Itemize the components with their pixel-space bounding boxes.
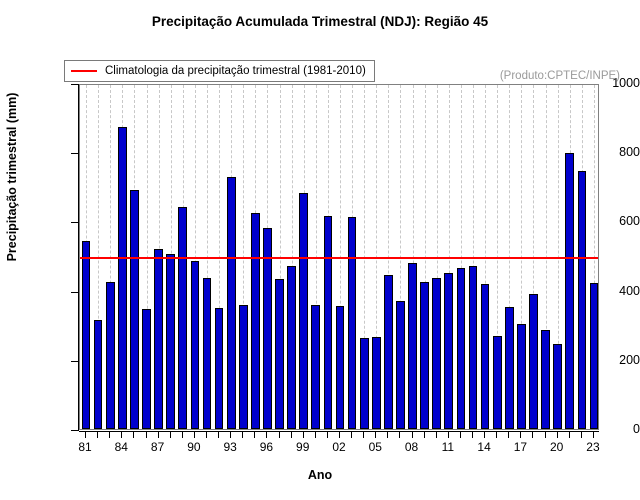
x-tick (375, 432, 376, 438)
bar (348, 217, 357, 429)
y-tick (71, 430, 78, 431)
x-tick (315, 432, 316, 438)
bar (324, 216, 333, 429)
bar (311, 305, 320, 429)
bar (130, 190, 139, 429)
bar (420, 282, 429, 429)
y-tick (71, 361, 78, 362)
bar (457, 268, 466, 429)
x-tick-label: 90 (179, 440, 209, 454)
bar (372, 337, 381, 429)
x-tick (545, 432, 546, 438)
page-title: Precipitação Acumulada Trimestral (NDJ):… (0, 14, 640, 29)
y-tick (71, 153, 78, 154)
bar (553, 344, 562, 429)
legend-label-climatology: Climatologia da precipitação trimestral … (105, 65, 366, 77)
x-tick (387, 432, 388, 438)
bar (142, 309, 151, 429)
bar (154, 249, 163, 429)
x-tick (230, 432, 231, 438)
y-tick (71, 222, 78, 223)
bar (191, 261, 200, 430)
legend-line-swatch (71, 70, 97, 72)
bar (384, 275, 393, 429)
bar (251, 213, 260, 429)
bar (82, 241, 91, 429)
x-tick (206, 432, 207, 438)
x-tick (484, 432, 485, 438)
bar (166, 254, 175, 429)
bar (227, 177, 236, 429)
bar (517, 324, 526, 429)
y-tick (71, 84, 78, 85)
x-tick (532, 432, 533, 438)
climatology-reference-line (80, 257, 598, 259)
bar (299, 193, 308, 429)
x-tick-label: 23 (578, 440, 608, 454)
bar (541, 330, 550, 429)
bar (469, 266, 478, 429)
x-tick-label: 81 (70, 440, 100, 454)
x-tick (97, 432, 98, 438)
bar (578, 171, 587, 429)
x-tick (520, 432, 521, 438)
x-tick (448, 432, 449, 438)
x-tick (242, 432, 243, 438)
x-tick (472, 432, 473, 438)
bar (118, 127, 127, 429)
x-tick (399, 432, 400, 438)
bar (215, 308, 224, 429)
x-tick (121, 432, 122, 438)
x-tick-label: 87 (143, 440, 173, 454)
bar (360, 338, 369, 429)
x-tick-label: 05 (360, 440, 390, 454)
x-tick (303, 432, 304, 438)
bar (275, 279, 284, 429)
bar (565, 153, 574, 429)
x-tick (146, 432, 147, 438)
x-tick (363, 432, 364, 438)
bar (432, 278, 441, 429)
x-tick (218, 432, 219, 438)
bar (203, 278, 212, 429)
legend: Climatologia da precipitação trimestral … (64, 60, 375, 82)
x-tick (460, 432, 461, 438)
x-tick (339, 432, 340, 438)
x-tick (508, 432, 509, 438)
x-tick-label: 99 (288, 440, 318, 454)
bar (106, 282, 115, 429)
x-tick (424, 432, 425, 438)
bar (493, 336, 502, 429)
x-tick (133, 432, 134, 438)
x-tick (182, 432, 183, 438)
x-tick (109, 432, 110, 438)
x-axis-title: Ano (0, 468, 640, 482)
x-tick-label: 20 (542, 440, 572, 454)
bar (529, 294, 538, 429)
bar (287, 266, 296, 429)
bar (481, 284, 490, 429)
x-tick (593, 432, 594, 438)
bar (94, 320, 103, 429)
x-tick (158, 432, 159, 438)
x-tick (291, 432, 292, 438)
x-tick (351, 432, 352, 438)
x-tick (194, 432, 195, 438)
x-tick (412, 432, 413, 438)
x-tick (436, 432, 437, 438)
y-axis-title: Precipitação trimestral (mm) (5, 17, 19, 337)
x-tick-label: 08 (397, 440, 427, 454)
bar (239, 305, 248, 429)
plot-area (79, 84, 599, 430)
y-tick (71, 292, 78, 293)
x-tick (254, 432, 255, 438)
bar (396, 301, 405, 429)
x-tick (327, 432, 328, 438)
x-tick (569, 432, 570, 438)
x-tick-label: 11 (433, 440, 463, 454)
bar (505, 307, 514, 429)
producer-watermark: (Produto:CPTEC/INPE) (500, 70, 620, 82)
x-tick (279, 432, 280, 438)
x-tick (581, 432, 582, 438)
x-tick-label: 14 (469, 440, 499, 454)
x-tick-label: 17 (505, 440, 535, 454)
chart-root: Precipitação Acumulada Trimestral (NDJ):… (0, 0, 640, 500)
x-tick (266, 432, 267, 438)
bar (408, 263, 417, 429)
x-tick (557, 432, 558, 438)
x-tick-label: 84 (106, 440, 136, 454)
bar (178, 207, 187, 429)
x-tick-label: 93 (215, 440, 245, 454)
x-tick (496, 432, 497, 438)
x-tick-label: 96 (251, 440, 281, 454)
x-tick-label: 02 (324, 440, 354, 454)
bar (590, 283, 598, 429)
x-tick (170, 432, 171, 438)
plot-inner (80, 85, 598, 429)
bar (336, 306, 345, 429)
bar (444, 273, 453, 429)
x-tick (85, 432, 86, 438)
